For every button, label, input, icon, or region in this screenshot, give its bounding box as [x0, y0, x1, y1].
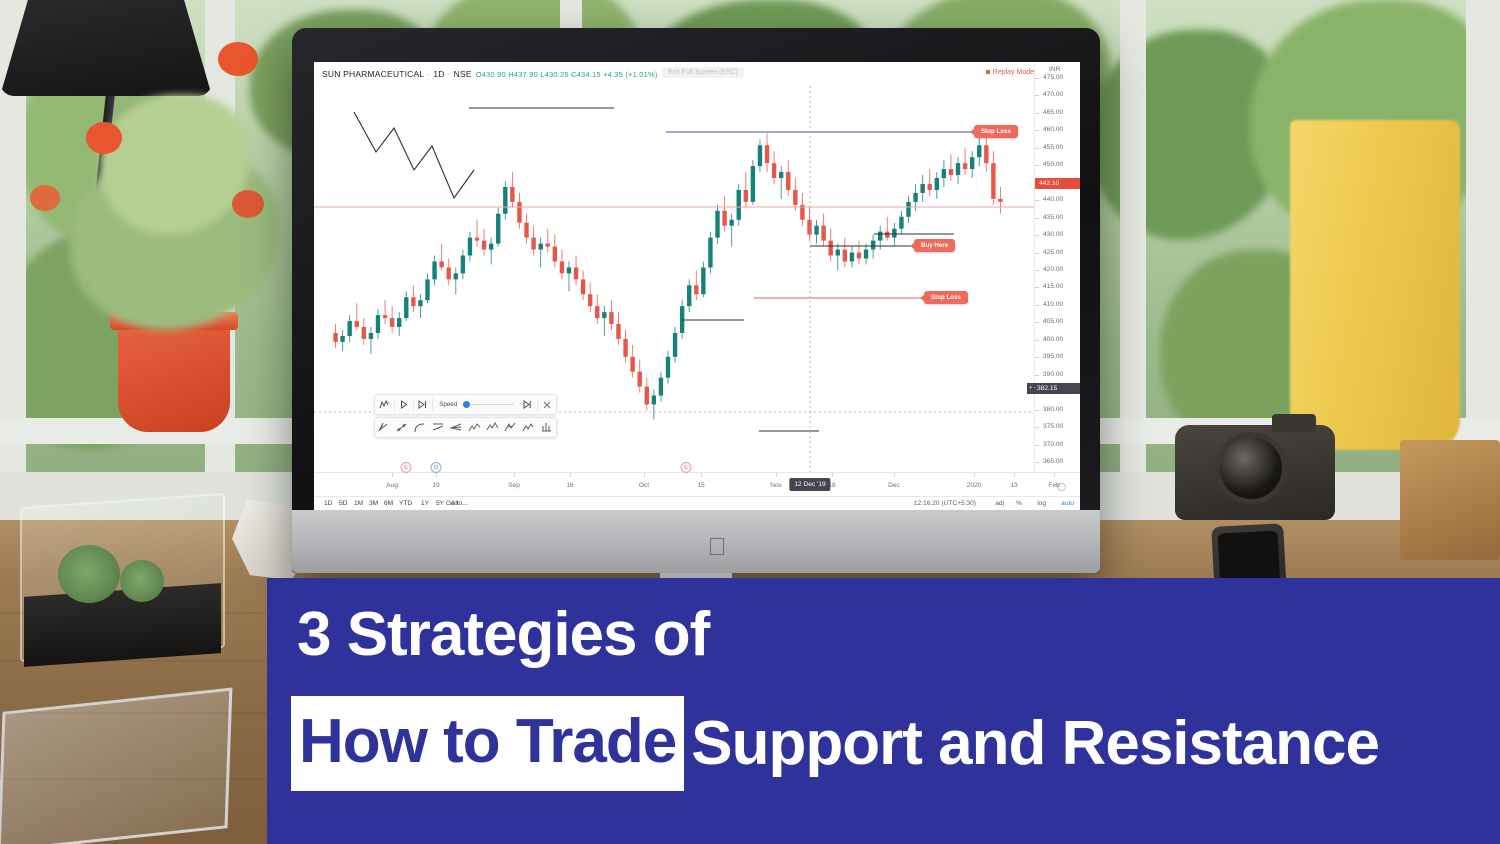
- camera-viewfinder: [1272, 414, 1316, 432]
- chart-clock: 12:16:20 (UTC+5:30): [914, 500, 976, 507]
- speed-slider-handle[interactable]: [463, 401, 470, 408]
- price-tick-mark: [1035, 287, 1039, 288]
- title-banner: 3 Strategies of How to Trade Support and…: [267, 578, 1500, 844]
- price-tick-mark: [1035, 340, 1039, 341]
- toolbar-divider: [432, 398, 433, 411]
- wireframe-decor: [0, 688, 232, 844]
- time-tick-mark: [514, 473, 515, 477]
- replay-mode-indicator[interactable]: Replay Mode: [986, 69, 1034, 76]
- flower-bloom: [218, 42, 258, 76]
- price-tick-mark: [1035, 253, 1039, 254]
- selected-date-badge: 12 Dec '19: [789, 478, 830, 491]
- timeframe-3m[interactable]: 3M: [369, 500, 378, 507]
- timeframe-ytd[interactable]: YTD: [399, 500, 412, 507]
- replay-mode-label: Replay Mode: [993, 69, 1034, 76]
- arc-icon[interactable]: [411, 422, 429, 433]
- camera-lens: [1215, 432, 1287, 504]
- time-tick-label: Aug: [386, 482, 398, 489]
- flower-pot: [118, 320, 230, 432]
- price-tick-label: 400.00: [1043, 336, 1063, 343]
- banner-highlight-text: How to Trade: [291, 696, 684, 791]
- time-tick-mark: [894, 473, 895, 477]
- tradingview-app: SUN PHARMACEUTICAL·1D·NSEO430.90 H437.90…: [314, 62, 1080, 510]
- three-drives-pattern-icon[interactable]: [520, 422, 538, 433]
- price-tick-mark: [1035, 165, 1039, 166]
- time-tick-label: 16: [566, 482, 573, 489]
- terrarium-soil: [24, 583, 221, 667]
- symbol-exchange: NSE: [454, 69, 472, 79]
- play-icon[interactable]: [394, 395, 413, 414]
- time-tick-label: Nov: [770, 482, 782, 489]
- price-tick-mark: [1035, 410, 1039, 411]
- price-tick-label: 475.00: [1043, 74, 1063, 81]
- crosshair-price-badge: + - 382.15: [1027, 383, 1080, 394]
- speed-slider[interactable]: [461, 404, 514, 405]
- pattern-tools-toolbar[interactable]: [374, 417, 557, 438]
- time-tick-mark: [974, 473, 975, 477]
- crosshair-price-value: 382.15: [1037, 385, 1057, 392]
- time-tick-mark: [392, 473, 393, 477]
- timeframe-1y[interactable]: 1Y: [421, 500, 429, 507]
- price-tick-mark: [1035, 427, 1039, 428]
- zigzag-drawing: [354, 112, 474, 198]
- legend-separator: ·: [427, 69, 430, 79]
- timeframe-5y[interactable]: 5Y: [436, 500, 444, 507]
- flower-bloom: [86, 122, 122, 154]
- symbol-legend[interactable]: SUN PHARMACEUTICAL·1D·NSEO430.90 H437.90…: [322, 69, 658, 79]
- time-tick-mark: [1014, 473, 1015, 477]
- price-tick-label: 365.00: [1043, 458, 1063, 465]
- price-tick-mark: [1035, 130, 1039, 131]
- record-dot-icon: [986, 70, 990, 74]
- time-tick-mark: [436, 473, 437, 477]
- price-tick-mark: [1035, 375, 1039, 376]
- time-tick-mark: [776, 473, 777, 477]
- time-tick-mark: [701, 473, 702, 477]
- imac-chin: [292, 510, 1100, 573]
- price-axis[interactable]: INR 475.00470.00465.00460.00455.00450.00…: [1034, 62, 1080, 487]
- trend-line-icon[interactable]: [393, 422, 411, 433]
- annotation-stop-loss-bottom[interactable]: Stop Loss: [924, 291, 968, 304]
- banner-rest-text: Support and Resistance: [691, 713, 1379, 775]
- banner-line-1: 3 Strategies of: [297, 604, 709, 666]
- price-tick-label: 390.00: [1043, 371, 1063, 378]
- banner-line-2: How to Trade Support and Resistance: [291, 696, 1379, 791]
- timeframe-6m[interactable]: 6M: [384, 500, 393, 507]
- symbol-name[interactable]: SUN PHARMACEUTICAL: [322, 69, 424, 79]
- price-tick-label: 455.00: [1043, 144, 1063, 151]
- price-tick-mark: [1035, 148, 1039, 149]
- imac-display: SUN PHARMACEUTICAL·1D·NSEO430.90 H437.90…: [314, 62, 1080, 510]
- time-tick-mark: [570, 473, 571, 477]
- price-tick-label: 370.00: [1043, 441, 1063, 448]
- price-tick-label: 440.00: [1043, 196, 1063, 203]
- head-and-shoulders-icon[interactable]: [538, 422, 556, 433]
- price-tick-label: 375.00: [1043, 423, 1063, 430]
- exit-fullscreen-button[interactable]: Exit Full Screen (ESC): [662, 67, 744, 78]
- price-tick-mark: [1035, 235, 1039, 236]
- scale-option-percent[interactable]: %: [1016, 500, 1022, 507]
- price-tick-label: 415.00: [1043, 283, 1063, 290]
- elliott-correction-wave-icon[interactable]: [484, 422, 502, 433]
- falling-wedge-icon[interactable]: [447, 422, 465, 433]
- chart-bottom-bar[interactable]: 1D5D1M3M6MYTD1Y5YAll Go to... 12:16:20 (…: [314, 496, 1080, 510]
- event-marker-dividend[interactable]: D: [431, 462, 442, 473]
- lamp-shade: [0, 0, 212, 96]
- price-tick-label: 410.00: [1043, 301, 1063, 308]
- skip-to-end-icon[interactable]: [518, 395, 537, 414]
- price-tick-mark: [1035, 113, 1039, 114]
- time-tick-mark: [832, 473, 833, 477]
- timeframe-1d[interactable]: 1D: [324, 500, 332, 507]
- abcd-pattern-icon[interactable]: [502, 422, 520, 433]
- time-tick-label: Sep: [508, 482, 520, 489]
- price-axis-unit: INR: [1049, 66, 1060, 73]
- speed-label: Speed: [439, 401, 457, 408]
- succulent-plant: [120, 560, 164, 602]
- symbol-interval[interactable]: 1D: [433, 69, 444, 79]
- timeframe-1m[interactable]: 1M: [354, 500, 363, 507]
- resize-handle-icon: + -: [1029, 383, 1036, 394]
- ohlc-values: O430.90 H437.90 L430.25 C434.15 +4.35 (+…: [476, 70, 658, 79]
- price-tick-label: 470.00: [1043, 91, 1063, 98]
- scale-option-adj[interactable]: adj: [995, 500, 1004, 507]
- chart-header: SUN PHARMACEUTICAL·1D·NSEO430.90 H437.90…: [314, 62, 1080, 86]
- goto-button[interactable]: Go to...: [446, 500, 468, 507]
- last-price-badge: 442.10: [1035, 178, 1080, 189]
- price-tick-label: 405.00: [1043, 318, 1063, 325]
- price-tick-label: 395.00: [1043, 353, 1063, 360]
- price-tick-mark: [1035, 462, 1039, 463]
- flower-bloom: [30, 185, 60, 211]
- jump-to-bar-icon[interactable]: +: [375, 395, 394, 414]
- svg-text:+: +: [387, 400, 390, 405]
- scale-option-log[interactable]: log: [1037, 500, 1046, 507]
- price-tick-mark: [1035, 270, 1039, 271]
- price-tick-mark: [1035, 322, 1039, 323]
- time-tick-mark: [644, 473, 645, 477]
- scale-option-auto[interactable]: auto: [1061, 500, 1074, 507]
- annotation-buy-here[interactable]: Buy Here: [914, 239, 955, 252]
- event-marker-earnings[interactable]: E: [681, 462, 692, 473]
- time-tick-label: Dec: [888, 482, 900, 489]
- price-tick-label: 420.00: [1043, 266, 1063, 273]
- wood-block: [1400, 440, 1500, 560]
- price-tick-mark: [1035, 200, 1039, 201]
- flower-bloom: [232, 190, 264, 218]
- time-tick-mark: [1054, 473, 1055, 477]
- succulent-plant: [58, 545, 120, 603]
- close-replay-icon[interactable]: [537, 395, 556, 414]
- price-tick-mark: [1035, 218, 1039, 219]
- time-tick-label: Oct: [639, 482, 649, 489]
- time-tick-label: 19: [432, 482, 439, 489]
- price-tick-label: 450.00: [1043, 161, 1063, 168]
- time-tick-label: 15: [697, 482, 704, 489]
- time-tick-label: 2020: [967, 482, 982, 489]
- time-tick-label: 13: [1010, 482, 1017, 489]
- legend-separator: ·: [448, 69, 451, 79]
- price-tick-mark: [1035, 95, 1039, 96]
- xabcd-pattern-icon[interactable]: [375, 422, 393, 433]
- apple-logo-icon: : [706, 534, 728, 560]
- replay-toolbar[interactable]: + Speed: [374, 394, 557, 415]
- annotation-stop-loss-top[interactable]: Stop Loss: [974, 125, 1018, 138]
- price-tick-mark: [1035, 445, 1039, 446]
- photo-scene:  SUN PHARMACEUTICAL·1D·NSEO430.90 H437.…: [0, 0, 1500, 844]
- price-tick-mark: [1035, 305, 1039, 306]
- price-tick-label: 430.00: [1043, 231, 1063, 238]
- reset-view-icon[interactable]: ◯: [1057, 482, 1066, 491]
- price-tick-label: 425.00: [1043, 249, 1063, 256]
- price-tick-label: 460.00: [1043, 126, 1063, 133]
- elliott-impulse-wave-icon[interactable]: [465, 422, 483, 433]
- price-tick-label: 435.00: [1043, 214, 1063, 221]
- event-marker-earnings[interactable]: E: [401, 462, 412, 473]
- curtain: [1290, 120, 1460, 450]
- price-tick-label: 380.00: [1043, 406, 1063, 413]
- price-tick-mark: [1035, 78, 1039, 79]
- flat-top-triangle-icon[interactable]: [429, 422, 447, 433]
- chart-plot-area[interactable]: Stop Loss Buy Here Stop Loss +: [314, 86, 1034, 472]
- step-forward-icon[interactable]: [414, 395, 433, 414]
- price-tick-mark: [1035, 357, 1039, 358]
- price-tick-label: 465.00: [1043, 109, 1063, 116]
- timeframe-5d[interactable]: 5D: [339, 500, 347, 507]
